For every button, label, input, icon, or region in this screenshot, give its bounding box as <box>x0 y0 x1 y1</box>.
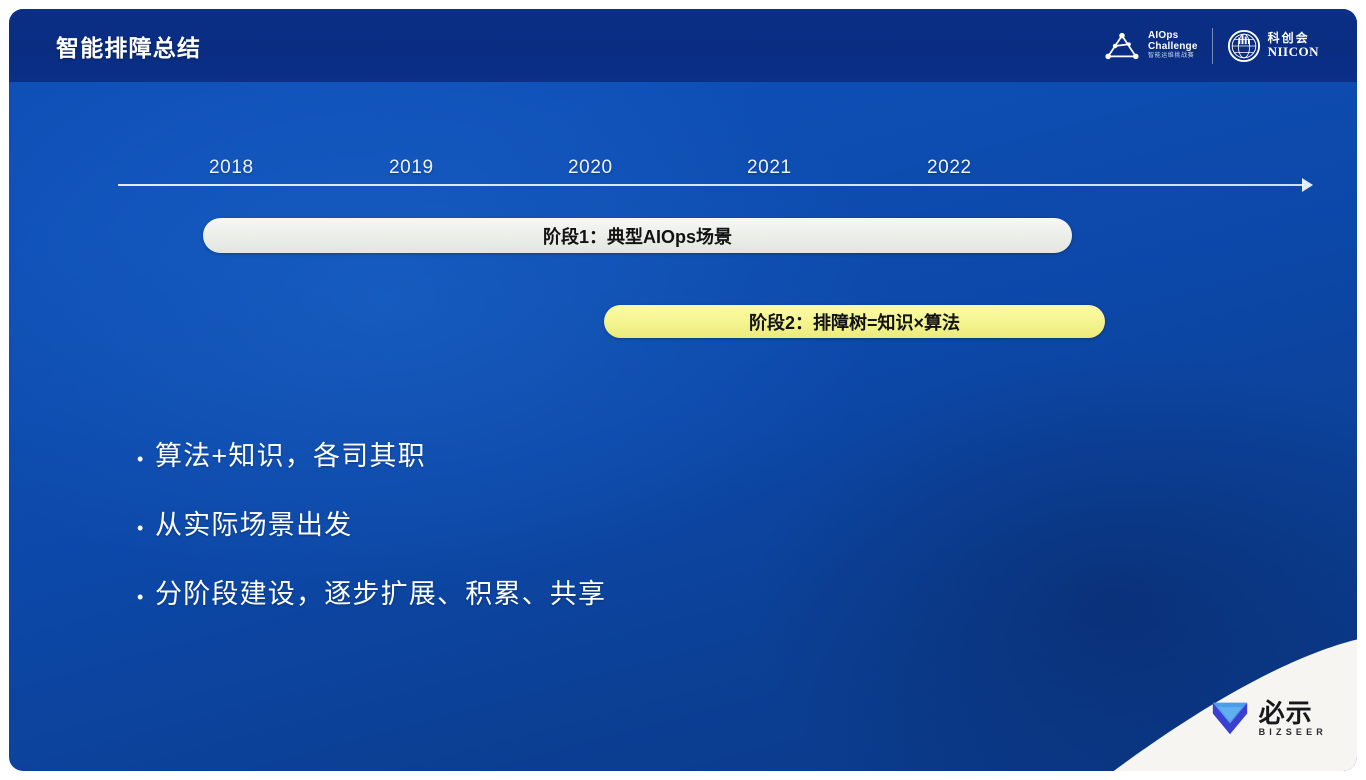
slide-header: 智能排障总结 <box>9 9 1357 82</box>
header-logo-group: AIOps Challenge 智能运维挑战赛 <box>1103 28 1319 64</box>
timeline-year-2022: 2022 <box>927 157 972 179</box>
bizseer-logo: 必示 BIZSEER <box>1210 699 1327 737</box>
timeline-year-2019: 2019 <box>389 157 434 179</box>
bullet-text: 算法+知识，各司其职 <box>155 434 426 473</box>
timeline: 2018 2019 2020 2021 2022 <box>9 9 1357 771</box>
bullet-text: 从实际场景出发 <box>155 503 352 542</box>
list-item: • 分阶段建设，逐步扩展、积累、共享 <box>137 572 606 611</box>
right-arrow-icon <box>1302 178 1313 192</box>
logo-divider <box>1212 28 1213 64</box>
aiops-challenge-logo: AIOps Challenge 智能运维挑战赛 <box>1103 31 1198 61</box>
bullet-marker-icon: • <box>137 519 155 537</box>
stage-2-pill: 阶段2：排障树=知识×算法 <box>604 305 1105 338</box>
list-item: • 算法+知识，各司其职 <box>137 434 606 473</box>
bizseer-triangle-check-icon <box>1210 699 1250 737</box>
niicon-logo: 科创会 NIICON <box>1227 29 1319 63</box>
niicon-wordmark: 科创会 NIICON <box>1268 32 1319 58</box>
aiops-wordmark: AIOps Challenge 智能运维挑战赛 <box>1148 31 1198 59</box>
aiops-subtitle: 智能运维挑战赛 <box>1148 53 1198 59</box>
timeline-year-2018: 2018 <box>209 157 254 179</box>
bullet-marker-icon: • <box>137 588 155 606</box>
bullet-list: • 算法+知识，各司其职 • 从实际场景出发 • 分阶段建设，逐步扩展、积累、共… <box>137 434 606 611</box>
bullet-text: 分阶段建设，逐步扩展、积累、共享 <box>155 572 606 611</box>
triangle-network-icon <box>1103 31 1141 61</box>
timeline-axis <box>118 184 1304 186</box>
bullet-marker-icon: • <box>137 450 155 468</box>
bizseer-wordmark: 必示 BIZSEER <box>1259 700 1327 737</box>
bizseer-english: BIZSEER <box>1259 728 1327 737</box>
slide-canvas: 智能排障总结 <box>9 9 1357 771</box>
page-title: 智能排障总结 <box>56 29 201 63</box>
aiops-line2: Challenge <box>1148 42 1198 52</box>
timeline-year-2021: 2021 <box>747 157 792 179</box>
timeline-year-2020: 2020 <box>568 157 613 179</box>
niicon-english: NIICON <box>1268 45 1319 59</box>
globe-emblem-icon <box>1227 29 1261 63</box>
list-item: • 从实际场景出发 <box>137 503 606 542</box>
bizseer-chinese: 必示 <box>1259 700 1327 726</box>
stage-1-pill: 阶段1：典型AIOps场景 <box>203 218 1072 253</box>
